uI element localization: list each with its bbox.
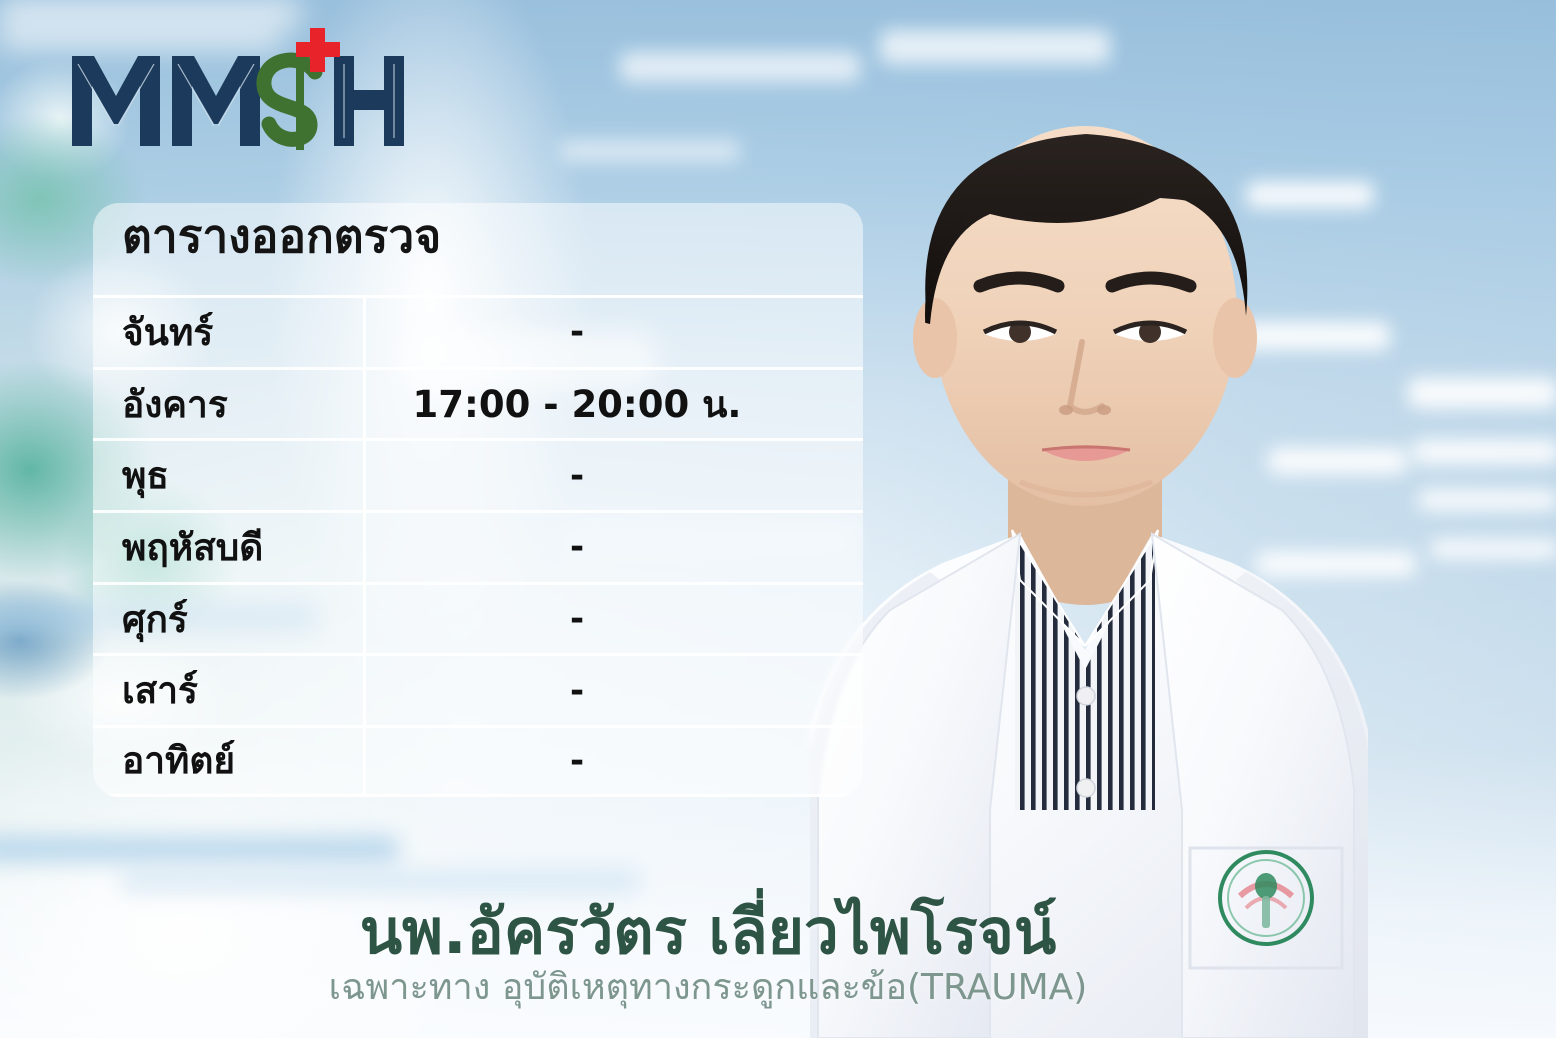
column-divider bbox=[363, 298, 366, 367]
time-value: - bbox=[363, 312, 863, 352]
column-divider bbox=[363, 513, 366, 582]
time-value: - bbox=[363, 671, 863, 711]
table-row: จันทร์ - bbox=[93, 295, 863, 367]
doctor-schedule-card: ตารางออกตรวจ จันทร์ - อังคาร 17:00 - 20:… bbox=[0, 0, 1556, 1038]
time-value: - bbox=[363, 599, 863, 639]
shirt-button bbox=[1077, 687, 1095, 705]
day-label: ศุกร์ bbox=[93, 590, 363, 649]
column-divider bbox=[363, 728, 366, 794]
table-row: ศุกร์ - bbox=[93, 582, 863, 654]
day-label: เสาร์ bbox=[93, 661, 363, 720]
mmsh-logo bbox=[66, 24, 436, 154]
column-divider bbox=[363, 585, 366, 654]
day-label: พฤหัสบดี bbox=[93, 518, 363, 577]
coat-lapel-right bbox=[1152, 534, 1354, 1038]
ceiling-light bbox=[0, 0, 300, 26]
table-row: พฤหัสบดี - bbox=[93, 510, 863, 582]
logo-letter-h bbox=[334, 56, 404, 146]
day-label: อาทิตย์ bbox=[93, 731, 363, 790]
schedule-table: จันทร์ - อังคาร 17:00 - 20:00 น. พุธ - พ… bbox=[93, 295, 863, 797]
day-label: พุธ bbox=[93, 446, 363, 505]
logo-letter-m1 bbox=[72, 56, 160, 146]
time-value: - bbox=[363, 741, 863, 781]
table-row: อังคาร 17:00 - 20:00 น. bbox=[93, 367, 863, 439]
day-label: อังคาร bbox=[93, 375, 363, 434]
shirt-button bbox=[1077, 779, 1095, 797]
table-row: พุธ - bbox=[93, 438, 863, 510]
time-value: 17:00 - 20:00 น. bbox=[363, 375, 863, 434]
ceiling-light bbox=[620, 52, 860, 82]
schedule-title: ตารางออกตรวจ bbox=[122, 213, 441, 259]
column-divider bbox=[363, 370, 366, 439]
table-row: อาทิตย์ - bbox=[93, 725, 863, 797]
window-streak bbox=[120, 870, 640, 892]
day-label: จันทร์ bbox=[93, 303, 363, 362]
column-divider bbox=[363, 441, 366, 510]
window-streak bbox=[0, 836, 400, 862]
time-value: - bbox=[363, 456, 863, 496]
column-divider bbox=[363, 656, 366, 725]
ceiling-light bbox=[880, 30, 1110, 64]
table-row: เสาร์ - bbox=[93, 653, 863, 725]
logo-letter-m2 bbox=[172, 56, 260, 146]
schedule-panel: ตารางออกตรวจ จันทร์ - อังคาร 17:00 - 20:… bbox=[93, 203, 863, 797]
logo-letter-s bbox=[264, 46, 315, 150]
time-value: - bbox=[363, 527, 863, 567]
